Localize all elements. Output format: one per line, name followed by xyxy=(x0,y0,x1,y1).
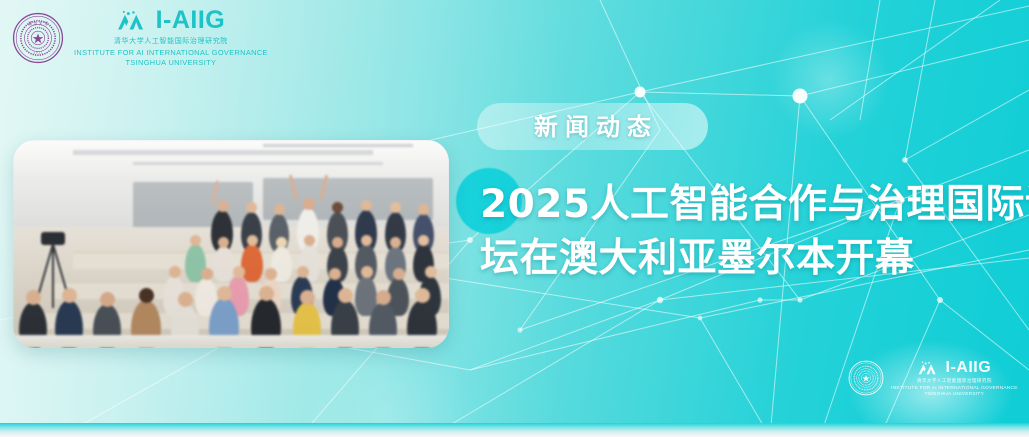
glow-blob-top xyxy=(770,20,890,140)
svg-text:清 华 大 学: 清 华 大 学 xyxy=(28,20,49,26)
i-aiig-mark-watermark-icon xyxy=(918,361,941,376)
institute-name-en-line2: TSINGHUA UNIVERSITY xyxy=(125,58,216,67)
institute-name-cn-watermark: 清华大学人工智能国际治理研究院 xyxy=(917,378,992,384)
news-category-label: 新闻动态 xyxy=(527,115,658,139)
news-category-badge[interactable]: 新闻动态 xyxy=(477,103,708,150)
brand-lockup-header: 清 华 大 学 1 9 1 1 I-AIIG 清华大学人工智能国际治理研究院 xyxy=(12,8,268,67)
institute-name-en-line1-watermark: INSTITUTE FOR AI INTERNATIONAL GOVERNANC… xyxy=(891,386,1018,391)
i-aiig-mark-icon xyxy=(117,10,151,32)
institute-name-cn: 清华大学人工智能国际治理研究院 xyxy=(114,36,228,46)
headline-line-1: 2025人工智能合作与治理国际论 xyxy=(480,178,1010,232)
bottom-fade-strip xyxy=(0,423,1029,437)
forum-group-photo xyxy=(13,140,449,348)
headline-line-2: 坛在澳大利亚墨尔本开幕 xyxy=(480,232,1010,286)
institute-name-en-line1: INSTITUTE FOR AI INTERNATIONAL GOVERNANC… xyxy=(74,48,268,57)
institute-name-en-line2-watermark: TSINGHUA UNIVERSITY xyxy=(925,392,984,397)
photo-sheen xyxy=(13,140,449,348)
tsinghua-seal-icon: 清 华 大 学 1 9 1 1 xyxy=(12,12,64,64)
tsinghua-seal-watermark-icon xyxy=(848,360,884,396)
news-banner: 清 华 大 学 1 9 1 1 I-AIIG 清华大学人工智能国际治理研究院 xyxy=(0,0,1029,437)
page-title: 2025人工智能合作与治理国际论 坛在澳大利亚墨尔本开幕 xyxy=(480,178,1010,286)
brand-wordmark: I-AIIG xyxy=(156,8,226,33)
svg-text:1 9 1 1: 1 9 1 1 xyxy=(33,50,42,54)
brand-wordmark-watermark: I-AIIG xyxy=(946,360,992,376)
brand-lockup-watermark: I-AIIG 清华大学人工智能国际治理研究院 INSTITUTE FOR AI … xyxy=(848,360,1018,397)
